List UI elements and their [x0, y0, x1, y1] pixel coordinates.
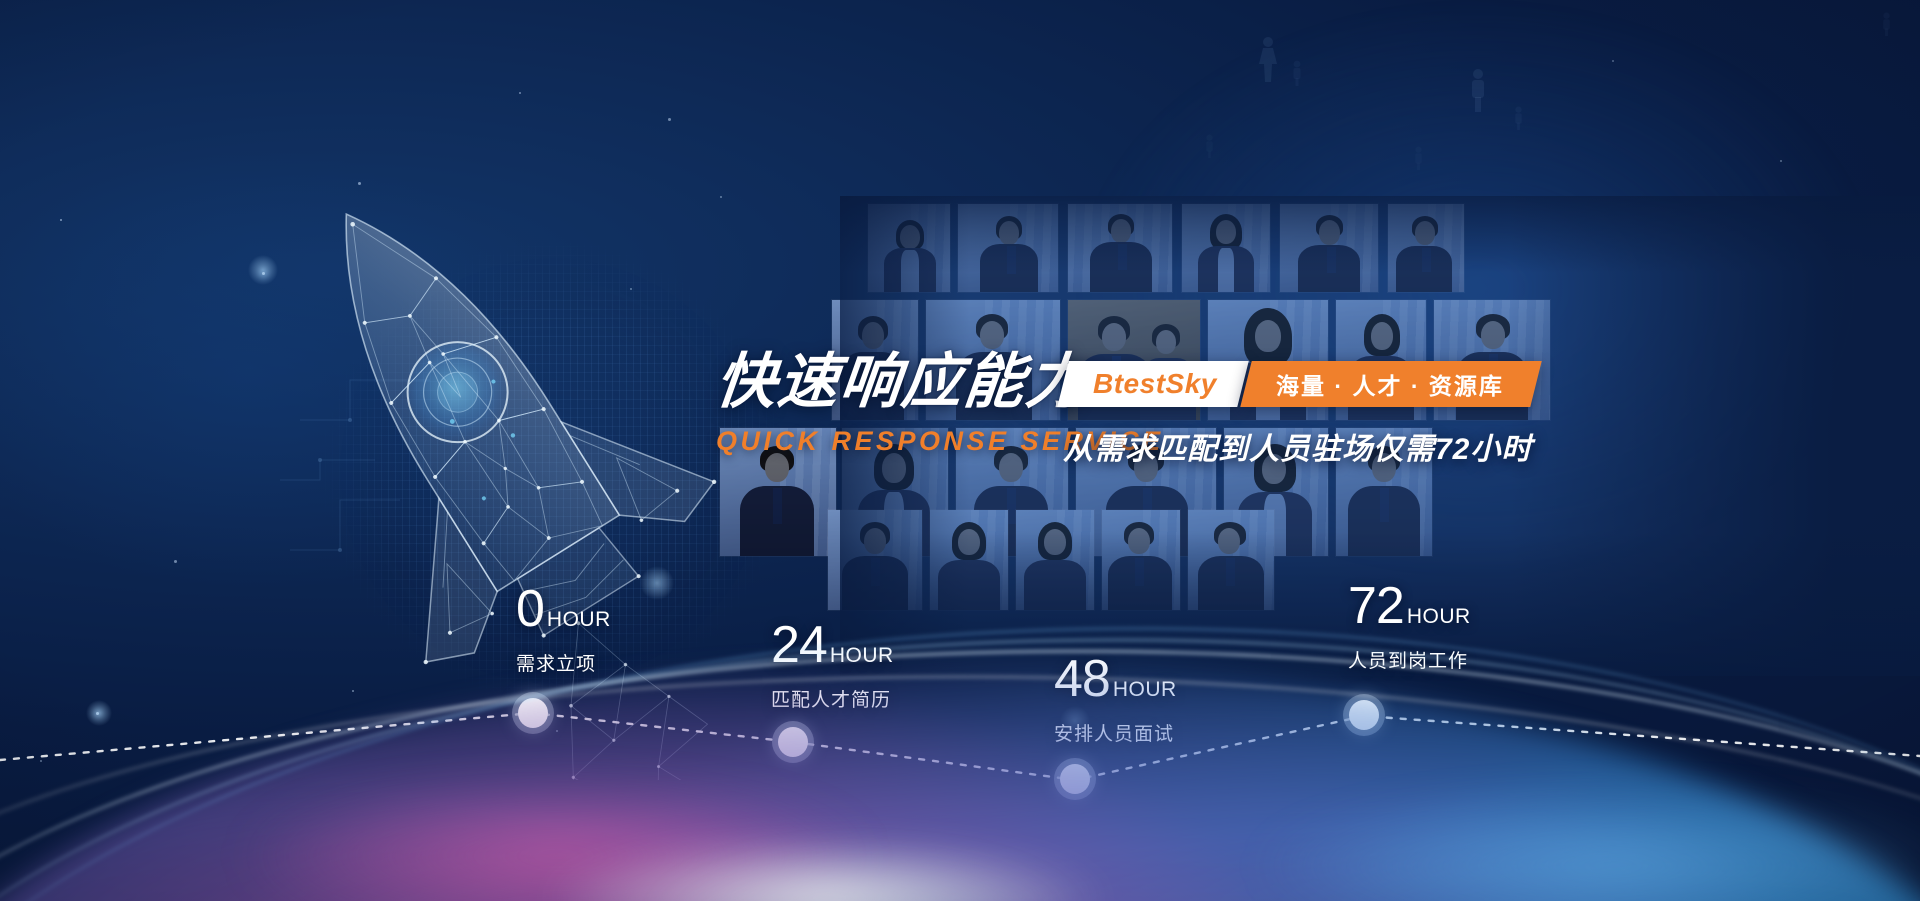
banner-stage: 快速响应能力 QUICK RESPONSE SERVICE BtestSky 海…: [0, 0, 1920, 901]
aurora-light-streaks: [0, 601, 1920, 901]
